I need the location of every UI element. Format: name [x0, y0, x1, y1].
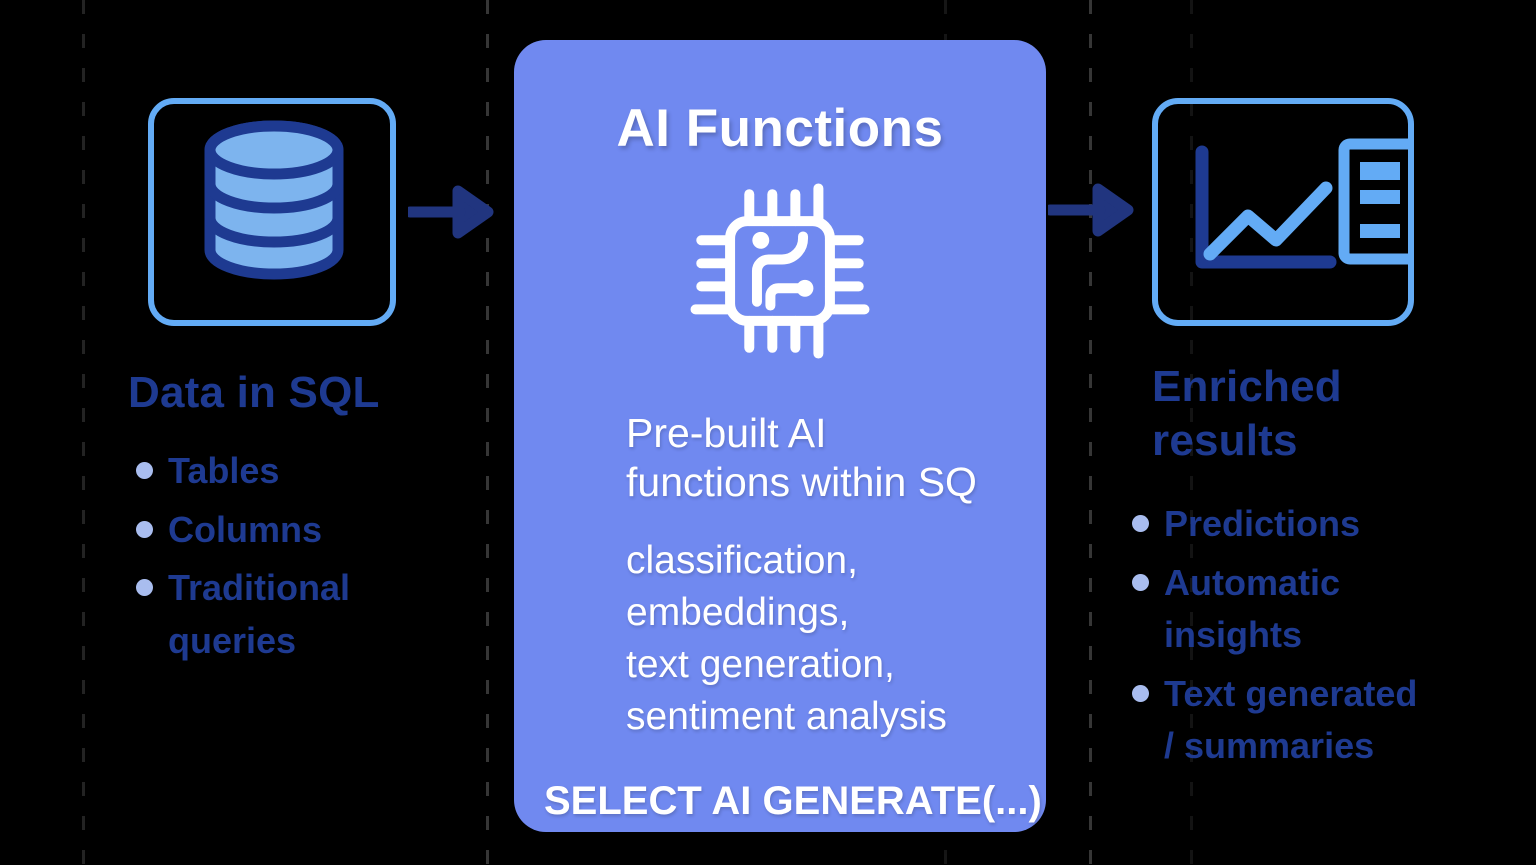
ai-chip-icon-wrap: [514, 175, 1046, 367]
database-icon-frame: [148, 98, 396, 326]
list-item-label: Traditional queries: [168, 562, 350, 667]
bullet-dot-icon: [136, 579, 153, 596]
left-column-heading: Data in SQL: [128, 366, 488, 420]
list-item: Columns: [128, 504, 488, 557]
guide-line-4: [1089, 0, 1092, 865]
ai-functions-diagram: Data in SQL Tables Columns Traditional q…: [0, 0, 1536, 865]
bullet-dot-icon: [1132, 515, 1149, 532]
arrow-data-to-ai: [408, 184, 498, 240]
list-item-label: Predictions: [1164, 503, 1360, 544]
guide-line-2: [486, 0, 489, 865]
list-item: Text generated / summaries: [1124, 668, 1524, 773]
bullet-dot-icon: [136, 521, 153, 538]
left-bullet-list: Tables Columns Traditional queries: [128, 445, 488, 673]
list-item-label: Text generated / summaries: [1164, 668, 1417, 773]
ai-chip-icon: [684, 175, 876, 367]
guide-line-1: [82, 0, 85, 865]
sql-snippet: SELECT AI GENERATE(...): [514, 779, 1046, 824]
bullet-dot-icon: [1132, 685, 1149, 702]
list-item: Automatic insights: [1124, 557, 1524, 662]
arrow-ai-to-results: [1048, 182, 1138, 238]
list-item: Tables: [128, 445, 488, 498]
ai-functions-card: AI Functions Pre-built AI functions with…: [514, 40, 1046, 832]
list-item-label: Tables: [168, 450, 279, 491]
list-item: Predictions: [1124, 498, 1524, 551]
list-item: Traditional queries: [128, 562, 488, 667]
list-item-label: Columns: [168, 509, 322, 550]
list-item-label: Automatic insights: [1164, 557, 1340, 662]
card-capabilities-list: classification, embeddings, text generat…: [514, 535, 1046, 742]
database-icon: [154, 104, 390, 320]
chart-report-icon: [1158, 104, 1408, 320]
chart-report-icon-frame: [1152, 98, 1414, 326]
right-column-heading: Enriched results: [1152, 360, 1482, 467]
bullet-dot-icon: [1132, 574, 1149, 591]
bullet-dot-icon: [136, 462, 153, 479]
page-title: AI Functions: [514, 98, 1046, 159]
card-subtitle: Pre-built AI functions within SQ: [514, 409, 1046, 507]
right-bullet-list: Predictions Automatic insights Text gene…: [1124, 498, 1524, 779]
